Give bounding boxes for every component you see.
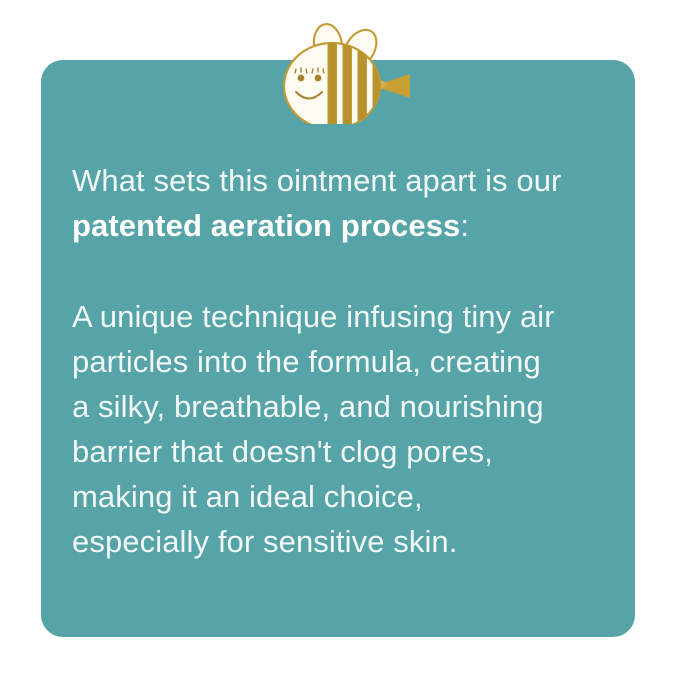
lead-bold-text: patented aeration process	[72, 208, 460, 243]
bee-mascot-icon	[270, 14, 420, 124]
bee-eye-left-icon	[298, 75, 305, 82]
slide-canvas: What sets this ointment apart is our pat…	[0, 0, 679, 679]
paragraph-spacer	[72, 248, 617, 294]
body-paragraph: A unique technique infusing tiny air par…	[72, 294, 617, 564]
bee-mascot	[270, 14, 420, 124]
lead-paragraph: What sets this ointment apart is our pat…	[72, 158, 617, 248]
lead-prefix-text: What sets this ointment apart is our	[72, 163, 561, 198]
card-copy: What sets this ointment apart is our pat…	[72, 158, 617, 564]
bee-eye-right-icon	[315, 75, 322, 82]
lead-suffix-text: :	[460, 208, 469, 243]
